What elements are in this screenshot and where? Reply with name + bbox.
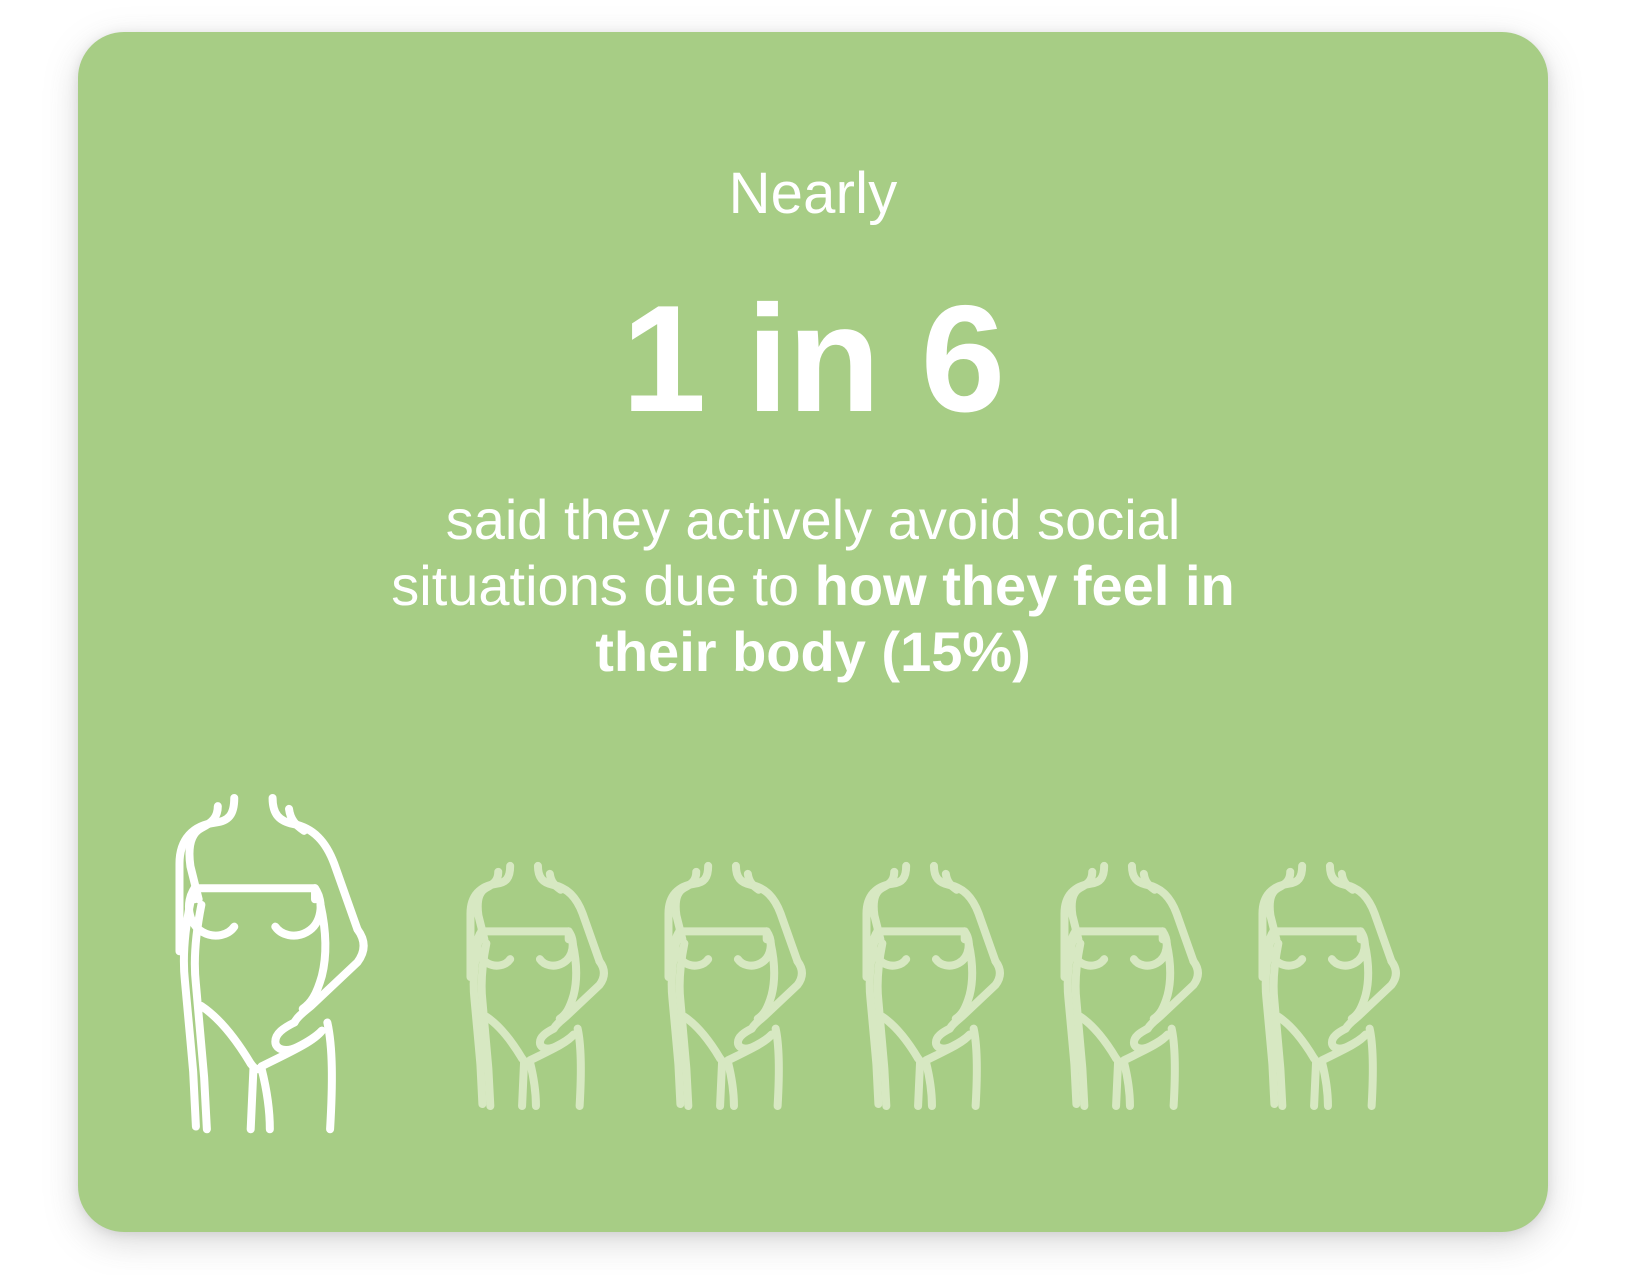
female-body-figure-icon — [638, 858, 820, 1108]
body-line-2-bold: how they feel in — [815, 554, 1235, 617]
female-body-figure-icon — [138, 787, 388, 1132]
figure-icon-5-faded — [1034, 858, 1216, 1108]
pictogram-row — [78, 732, 1548, 1132]
female-body-figure-icon — [1034, 858, 1216, 1108]
figure-icon-3-faded — [638, 858, 820, 1108]
statistic-card: Nearly 1 in 6 said they actively avoid s… — [78, 32, 1548, 1232]
body-line-2-regular: situations due to — [391, 554, 814, 617]
figure-icon-4-faded — [836, 858, 1018, 1108]
figure-icon-2-faded — [440, 858, 622, 1108]
body-line-3-bold: their body (15%) — [595, 620, 1031, 683]
infographic-canvas: Nearly 1 in 6 said they actively avoid s… — [0, 0, 1625, 1275]
figure-icon-1-highlighted — [138, 787, 388, 1132]
eyebrow-text: Nearly — [78, 162, 1548, 226]
female-body-figure-icon — [836, 858, 1018, 1108]
figure-icon-6-faded — [1232, 858, 1414, 1108]
body-copy: said they actively avoid social situatio… — [78, 487, 1548, 685]
body-line-1: said they actively avoid social — [446, 488, 1181, 551]
female-body-figure-icon — [1232, 858, 1414, 1108]
female-body-figure-icon — [440, 858, 622, 1108]
headline-statistic: 1 in 6 — [78, 280, 1548, 440]
